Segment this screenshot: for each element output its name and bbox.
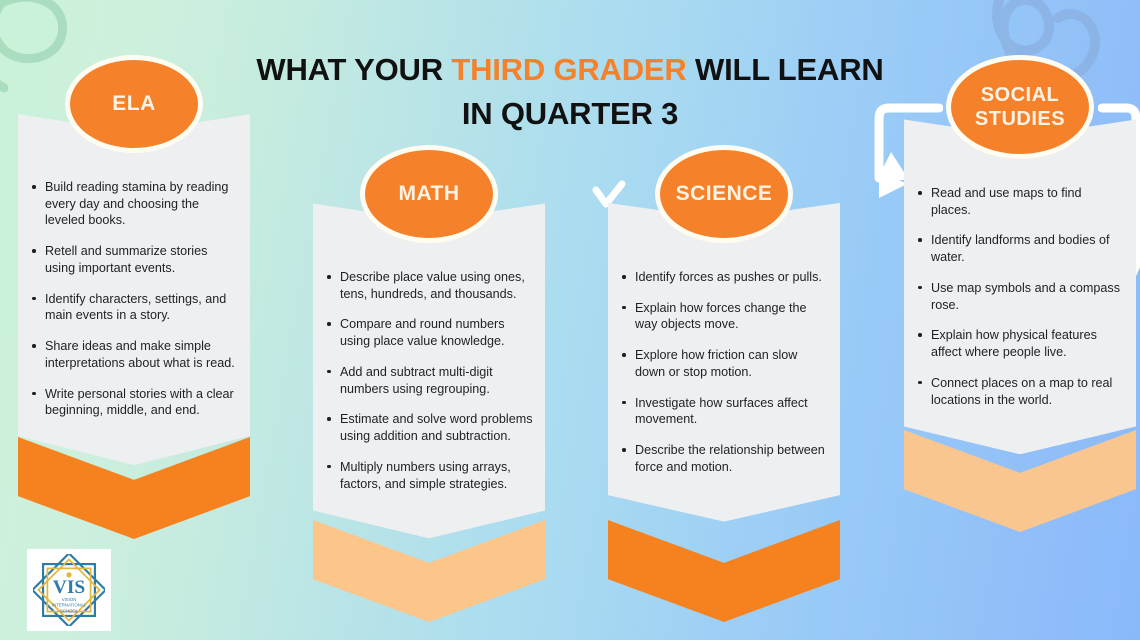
list-item: Read and use maps to find places. — [914, 185, 1124, 218]
logo-line-3: SCHOOL — [60, 608, 79, 613]
list-item: Identify forces as pushes or pulls. — [618, 269, 828, 286]
logo-line-1: VISION — [62, 597, 77, 602]
list-item: Investigate how surfaces affect movement… — [618, 395, 828, 428]
subject-bubble-math: MATH — [360, 145, 498, 243]
list-item: Write personal stories with a clear begi… — [28, 386, 238, 419]
list-item: Build reading stamina by reading every d… — [28, 179, 238, 229]
list-item: Explain how physical features affect whe… — [914, 327, 1124, 360]
page-title-suffix: WILL LEARN — [687, 52, 884, 87]
list-item: Add and subtract multi-digit numbers usi… — [323, 364, 533, 397]
page-title-line-1: WHAT YOUR THIRD GRADER WILL LEARN — [0, 48, 1140, 92]
list-item: Retell and summarize stories using impor… — [28, 243, 238, 276]
page-title-accent: THIRD GRADER — [451, 52, 686, 87]
list-item: Share ideas and make simple interpretati… — [28, 338, 238, 371]
page-title-prefix: WHAT YOUR — [256, 52, 451, 87]
list-item: Estimate and solve word problems using a… — [323, 411, 533, 444]
vision-international-school-logo-icon: VIS VISION INTERNATIONAL SCHOOL — [33, 554, 105, 626]
subject-bubble-science: SCIENCE — [655, 145, 793, 243]
subject-card-math: Describe place value using ones, tens, h… — [313, 191, 545, 538]
subject-column-science: SCIENCE Identify forces as pushes or pul… — [608, 145, 840, 522]
objective-list-ela: Build reading stamina by reading every d… — [28, 179, 238, 419]
objective-list-science: Identify forces as pushes or pulls. Expl… — [618, 269, 828, 476]
subject-card-ela: Build reading stamina by reading every d… — [18, 101, 250, 465]
subject-label-math: MATH — [398, 181, 459, 207]
objective-list-social-studies: Read and use maps to find places. Identi… — [914, 185, 1124, 408]
school-logo: VIS VISION INTERNATIONAL SCHOOL — [27, 549, 111, 631]
list-item: Explain how forces change the way object… — [618, 300, 828, 333]
logo-line-2: INTERNATIONAL — [52, 603, 87, 608]
page-title: WHAT YOUR THIRD GRADER WILL LEARN IN QUA… — [0, 48, 1140, 136]
list-item: Explore how friction can slow down or st… — [618, 347, 828, 380]
list-item: Identify characters, settings, and main … — [28, 291, 238, 324]
list-item: Use map symbols and a compass rose. — [914, 280, 1124, 313]
list-item: Describe place value using ones, tens, h… — [323, 269, 533, 302]
list-item: Connect places on a map to real location… — [914, 375, 1124, 408]
page-title-line-2: IN QUARTER 3 — [0, 92, 1140, 136]
list-item: Identify landforms and bodies of water. — [914, 232, 1124, 265]
objective-list-math: Describe place value using ones, tens, h… — [323, 269, 533, 492]
list-item: Multiply numbers using arrays, factors, … — [323, 459, 533, 492]
subject-column-math: MATH Describe place value using ones, te… — [313, 145, 545, 538]
list-item: Describe the relationship between force … — [618, 442, 828, 475]
logo-monogram: VIS — [53, 577, 85, 598]
chevron-science — [608, 520, 840, 622]
subject-card-social-studies: Read and use maps to find places. Identi… — [904, 107, 1136, 454]
list-item: Compare and round numbers using place va… — [323, 316, 533, 349]
subject-label-science: SCIENCE — [676, 181, 773, 207]
